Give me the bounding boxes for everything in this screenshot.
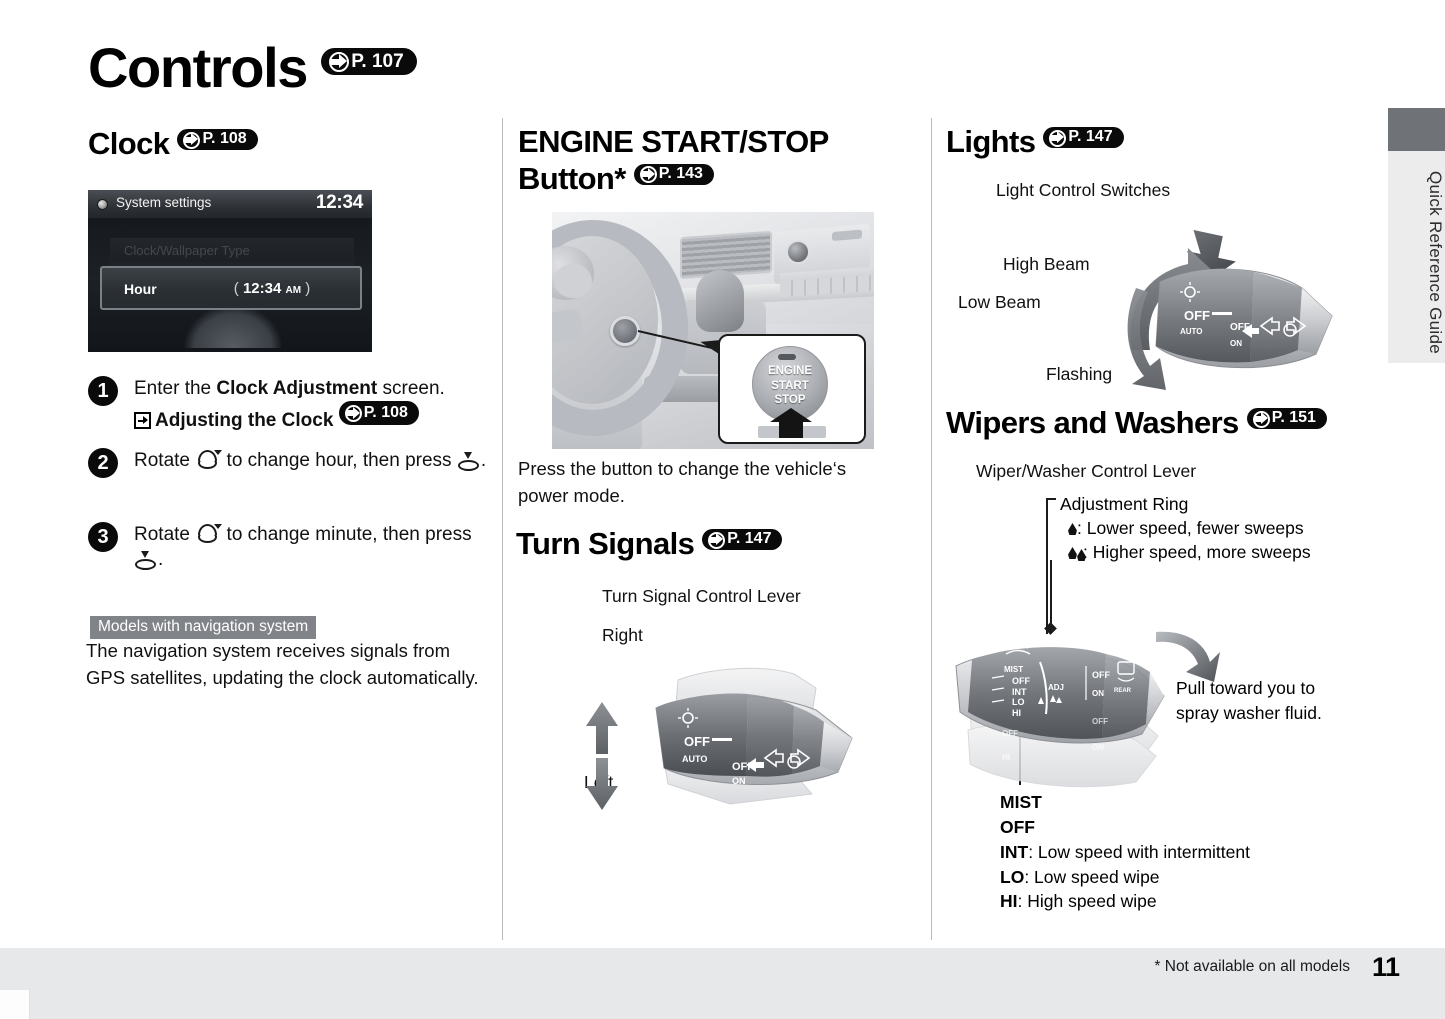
svg-text:HI: HI xyxy=(1002,753,1010,762)
step-text: Enter the Clock Adjustment screen. Adjus… xyxy=(134,376,488,434)
step-1-bold-term: Clock Adjustment xyxy=(216,378,377,399)
clock-heading: Clock P. 108 xyxy=(88,126,258,163)
arrow-right-icon xyxy=(638,165,657,184)
page-title-text: Controls xyxy=(88,36,307,99)
svg-text:OFF: OFF xyxy=(1092,717,1108,726)
clock-reference-text: P. 108 xyxy=(202,130,246,149)
manual-page: Controls P. 107 Clock P. 108 Clock/Wallp… xyxy=(0,0,1445,1019)
rotate-knob-icon xyxy=(195,450,221,470)
svg-text:OFF: OFF xyxy=(1184,308,1210,323)
nav-screen-clock: 12:34 xyxy=(316,192,363,214)
press-arrow-icon xyxy=(764,408,818,438)
legend-name: HI xyxy=(1000,891,1018,911)
svg-text:ADJ: ADJ xyxy=(1048,683,1064,692)
step-3-text-after: . xyxy=(158,549,163,570)
light-control-switches-label: Light Control Switches xyxy=(996,180,1170,201)
legend-item: OFF xyxy=(1000,815,1330,840)
adjustment-ring-line-1: : Lower speed, fewer sweeps xyxy=(1068,518,1304,539)
caret-left-icon[interactable]: ( xyxy=(234,280,239,297)
column-divider-2 xyxy=(931,118,932,940)
nav-screen-status-dot-icon xyxy=(97,199,108,210)
step-text: Rotate to change minute, then press . xyxy=(134,522,488,573)
navigation-models-tag: Models with navigation system xyxy=(90,616,316,639)
step-3-text-before: Rotate xyxy=(134,524,195,545)
step-1-text-after: screen. xyxy=(377,378,445,399)
press-knob-icon xyxy=(134,549,158,570)
wipers-heading: Wipers and Washers P. 151 xyxy=(946,405,1327,442)
engine-start-stop-button-location[interactable] xyxy=(610,316,640,346)
clock-step-2: 2 Rotate to change hour, then press . xyxy=(88,448,488,473)
nav-screen-body: Clock/Wallpaper Type Hour ( 12:34 AM ) xyxy=(88,218,372,352)
wipers-reference-pill[interactable]: P. 151 xyxy=(1247,408,1327,429)
nav-screen-hour-ampm: AM xyxy=(285,285,301,296)
svg-text:OFF: OFF xyxy=(1002,729,1018,738)
left-edge-strip xyxy=(0,0,14,1019)
svg-text:REAR: REAR xyxy=(1114,688,1132,694)
footer-notch xyxy=(0,990,30,1019)
lights-heading-text: Lights xyxy=(946,124,1035,159)
step-number-badge: 1 xyxy=(88,376,118,406)
navigation-screen-image: Clock/Wallpaper Type Hour ( 12:34 AM ) S… xyxy=(88,190,372,352)
svg-text:ON: ON xyxy=(1092,689,1104,698)
turn-signals-heading-text: Turn Signals xyxy=(516,526,694,561)
engine-button-label: ENGINE START STOP xyxy=(752,364,828,408)
step-2-text-mid: to change hour, then press xyxy=(221,450,457,471)
clock-step-1: 1 Enter the Clock Adjustment screen. Adj… xyxy=(88,376,488,434)
legend-item: LO: Low speed wipe xyxy=(1000,865,1330,890)
page-title: Controls P. 107 xyxy=(88,40,417,96)
arrow-right-icon xyxy=(706,530,725,549)
engine-reference-text: P. 143 xyxy=(659,165,703,184)
step-number-badge: 3 xyxy=(88,522,118,552)
engine-heading-text-2: Button* xyxy=(518,161,626,196)
wipers-reference-text: P. 151 xyxy=(1272,409,1316,428)
svg-text:AUTO: AUTO xyxy=(682,754,707,764)
engine-heading: ENGINE START/STOP Button* P. 143 xyxy=(518,124,918,197)
step-1-reference-text: P. 108 xyxy=(364,402,408,423)
step-text: Rotate to change hour, then press . xyxy=(134,448,488,473)
legend-desc: : Low speed wipe xyxy=(1024,867,1159,887)
engine-button-label-1: ENGINE xyxy=(752,364,828,379)
svg-text:OFF: OFF xyxy=(684,734,710,749)
engine-reference-pill[interactable]: P. 143 xyxy=(634,164,714,185)
legend-name: MIST xyxy=(1000,792,1042,812)
arrow-box-icon xyxy=(134,412,151,429)
column-divider-1 xyxy=(502,118,503,940)
wiper-washer-lever-label: Wiper/Washer Control Lever xyxy=(976,461,1196,482)
lights-reference-text: P. 147 xyxy=(1068,128,1112,147)
arrow-right-icon xyxy=(343,404,362,423)
arrow-right-icon xyxy=(1047,128,1066,147)
legend-item: MIST xyxy=(1000,790,1330,815)
svg-text:INT: INT xyxy=(1012,687,1027,697)
step-2-text-before: Rotate xyxy=(134,450,195,471)
svg-text:MIST: MIST xyxy=(1004,665,1023,674)
wipers-heading-text: Wipers and Washers xyxy=(946,405,1239,440)
nav-screen-title: System settings xyxy=(116,195,211,210)
nav-screen-title-bar: System settings 12:34 xyxy=(88,190,372,218)
caret-right-icon[interactable]: ) xyxy=(305,280,310,297)
water-drop-small-icon xyxy=(1077,549,1083,558)
step-2-text-after: . xyxy=(481,450,486,471)
svg-text:LO: LO xyxy=(1012,697,1025,707)
step-1-reference-pill[interactable]: P. 108 xyxy=(339,401,419,424)
turn-signal-lever-illustration: OFF AUTO OFF ON xyxy=(580,650,880,815)
nav-screen-arc-glow xyxy=(183,304,283,348)
low-beam-label: Low Beam xyxy=(958,292,1041,313)
legend-desc: : Low speed with intermittent xyxy=(1028,842,1250,862)
adjustment-ring-line-2: : Higher speed, more sweeps xyxy=(1068,542,1311,563)
legend-desc: : High speed wipe xyxy=(1018,891,1157,911)
page-number: 11 xyxy=(1372,952,1400,983)
side-tab-label: Quick Reference Guide xyxy=(1388,155,1445,365)
water-drop-icon xyxy=(1068,523,1077,536)
rotate-knob-icon xyxy=(195,524,221,544)
arrow-right-icon xyxy=(1251,409,1270,428)
turn-signals-heading: Turn Signals P. 147 xyxy=(516,526,782,563)
svg-text:OFF: OFF xyxy=(1012,676,1030,686)
engine-heading-line-1: ENGINE START/STOP xyxy=(518,124,918,161)
legend-name: LO xyxy=(1000,867,1024,887)
step-1-text-before: Enter the xyxy=(134,378,216,399)
lights-heading: Lights P. 147 xyxy=(946,124,1124,161)
engine-button-label-3: STOP xyxy=(752,393,828,408)
page-reference-pill[interactable]: P. 107 xyxy=(321,48,416,75)
lights-reference-pill[interactable]: P. 147 xyxy=(1043,127,1123,148)
engine-button-label-2: START xyxy=(752,379,828,394)
adjustment-ring-title: Adjustment Ring xyxy=(1060,494,1188,515)
clock-reference-pill[interactable]: P. 108 xyxy=(177,129,257,150)
svg-text:AUTO: AUTO xyxy=(1180,327,1203,336)
side-tab-cap xyxy=(1388,108,1445,151)
turn-signal-right-label: Right xyxy=(602,625,643,646)
turn-signal-lever-label: Turn Signal Control Lever xyxy=(602,586,801,607)
clock-heading-text: Clock xyxy=(88,126,169,161)
adjustment-ring-line-2-text: : Higher speed, more sweeps xyxy=(1083,542,1311,562)
light-control-lever-illustration: OFF AUTO OFF ON xyxy=(1040,230,1340,390)
nav-screen-hour-time: 12:34 xyxy=(243,280,281,297)
svg-text:ON: ON xyxy=(1092,743,1104,752)
engine-button-callout: ENGINE START STOP xyxy=(718,334,866,444)
footer-footnote: * Not available on all models xyxy=(1100,958,1350,976)
step-3-text-mid: to change minute, then press xyxy=(221,524,471,545)
engine-paragraph: Press the button to change the vehicle‘s… xyxy=(518,456,892,509)
wiper-washer-lever-illustration: MIST OFF INT LO HI ADJ OFF ON REAR xyxy=(942,600,1182,800)
nav-screen-hour-label: Hour xyxy=(124,281,157,297)
arrow-right-icon xyxy=(326,50,349,73)
svg-text:OFF: OFF xyxy=(1092,670,1110,680)
pull-toward-you-note: Pull toward you to spray washer fluid. xyxy=(1176,676,1346,726)
nav-screen-hour-value: ( 12:34 AM ) xyxy=(202,280,342,297)
legend-item: INT: Low speed with intermittent xyxy=(1000,840,1330,865)
turn-signals-reference-text: P. 147 xyxy=(727,530,771,549)
navigation-models-note: The navigation system receives signals f… xyxy=(86,638,486,692)
nav-screen-dimmed-row-label: Clock/Wallpaper Type xyxy=(124,243,250,258)
step-1-sub-label: Adjusting the Clock xyxy=(155,411,333,432)
step-1-subreference: Adjusting the Clock P. 108 xyxy=(134,401,488,434)
arrow-right-icon xyxy=(181,130,200,149)
press-knob-icon xyxy=(457,450,481,471)
button-indicator-icon xyxy=(778,354,796,360)
svg-text:HI: HI xyxy=(1012,708,1021,718)
engine-heading-line-2: Button* P. 143 xyxy=(518,161,918,198)
audio-knob-icon xyxy=(786,240,810,264)
clock-step-3: 3 Rotate to change minute, then press . xyxy=(88,522,488,573)
water-drop-icon xyxy=(1068,547,1077,560)
legend-name: OFF xyxy=(1000,817,1035,837)
svg-text:ON: ON xyxy=(732,776,746,786)
adjustment-ring-line-1-text: : Lower speed, fewer sweeps xyxy=(1077,518,1304,538)
legend-item: HI: High speed wipe xyxy=(1000,889,1330,914)
nav-screen-hour-row[interactable]: Hour ( 12:34 AM ) xyxy=(100,266,362,310)
legend-name: INT xyxy=(1000,842,1028,862)
turn-signals-reference-pill[interactable]: P. 147 xyxy=(702,529,782,550)
shift-lever-icon xyxy=(696,270,744,332)
page-reference-text: P. 107 xyxy=(351,52,403,71)
step-number-badge: 2 xyxy=(88,448,118,478)
svg-text:ON: ON xyxy=(1230,339,1242,348)
wiper-mode-legend: MIST OFF INT: Low speed with intermitten… xyxy=(1000,790,1330,914)
